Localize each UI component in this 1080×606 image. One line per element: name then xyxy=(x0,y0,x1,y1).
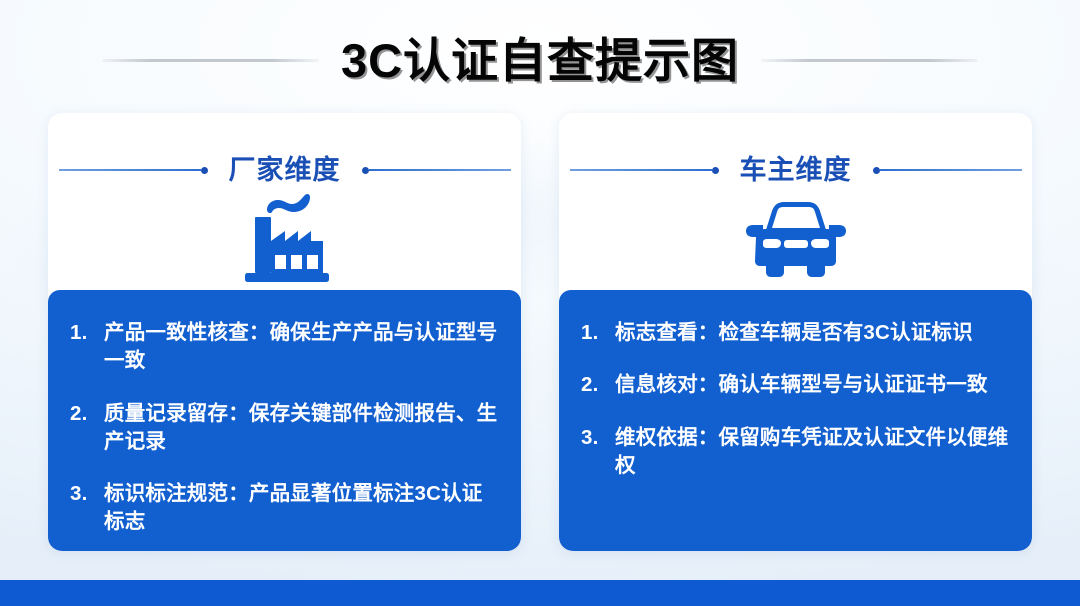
card-manufacturer-title: 厂家维度 xyxy=(208,157,362,184)
list-item: 1. 产品一致性核查：确保生产产品与认证型号一致 xyxy=(70,319,499,376)
title-connector-line-left xyxy=(59,169,201,171)
list-item: 1. 标志查看：检查车辆是否有3C认证标识 xyxy=(581,319,1010,347)
card-manufacturer-head: 厂家维度 xyxy=(48,113,521,290)
header: 3C认证自查提示图 xyxy=(0,16,1080,104)
title-dot-right xyxy=(362,167,369,174)
list-item: 2. 信息核对：确认车辆型号与认证证书一致 xyxy=(581,371,1010,399)
list-item-text: 质量记录留存：保存关键部件检测报告、生产记录 xyxy=(104,400,499,457)
card-car-owner[interactable]: 车主维度 xyxy=(559,113,1032,551)
car-icon xyxy=(559,189,1032,287)
card-car-owner-title-row: 车主维度 xyxy=(559,147,1032,193)
title-dot-left xyxy=(712,167,719,174)
card-car-owner-head: 车主维度 xyxy=(559,113,1032,290)
title-rule-left xyxy=(102,59,319,62)
list-item-text: 信息核对：确认车辆型号与认证证书一致 xyxy=(615,371,1010,399)
cards-container: 厂家维度 xyxy=(48,113,1032,551)
title-connector-line-right xyxy=(369,169,511,171)
card-car-owner-body: 1. 标志查看：检查车辆是否有3C认证标识 2. 信息核对：确认车辆型号与认证证… xyxy=(559,290,1032,551)
card-car-owner-list: 1. 标志查看：检查车辆是否有3C认证标识 2. 信息核对：确认车辆型号与认证证… xyxy=(581,319,1010,480)
title-dot-right xyxy=(873,167,880,174)
title-rule-right xyxy=(761,59,978,62)
title-connector-line-left xyxy=(570,169,712,171)
list-item-number: 1. xyxy=(70,319,104,347)
title-dot-left xyxy=(201,167,208,174)
list-item-text: 标志查看：检查车辆是否有3C认证标识 xyxy=(615,319,1010,347)
bottom-accent-bar xyxy=(0,580,1080,606)
list-item: 3. 标识标注规范：产品显著位置标注3C认证标志 xyxy=(70,480,499,537)
poster-root: 3C认证自查提示图 厂家维度 xyxy=(0,0,1080,606)
list-item: 3. 维权依据：保留购车凭证及认证文件以便维权 xyxy=(581,424,1010,481)
card-manufacturer[interactable]: 厂家维度 xyxy=(48,113,521,551)
list-item-text: 产品一致性核查：确保生产产品与认证型号一致 xyxy=(104,319,499,376)
list-item-text: 维权依据：保留购车凭证及认证文件以便维权 xyxy=(615,424,1010,481)
list-item-number: 1. xyxy=(581,319,615,347)
card-car-owner-title: 车主维度 xyxy=(719,157,873,184)
title-connector-line-right xyxy=(880,169,1022,171)
card-manufacturer-list: 1. 产品一致性核查：确保生产产品与认证型号一致 2. 质量记录留存：保存关键部… xyxy=(70,319,499,537)
factory-icon xyxy=(48,189,521,287)
list-item-number: 2. xyxy=(581,371,615,399)
list-item: 2. 质量记录留存：保存关键部件检测报告、生产记录 xyxy=(70,400,499,457)
list-item-number: 2. xyxy=(70,400,104,428)
page-title: 3C认证自查提示图 xyxy=(341,37,739,84)
card-manufacturer-body: 1. 产品一致性核查：确保生产产品与认证型号一致 2. 质量记录留存：保存关键部… xyxy=(48,290,521,551)
list-item-text: 标识标注规范：产品显著位置标注3C认证标志 xyxy=(104,480,499,537)
card-manufacturer-title-row: 厂家维度 xyxy=(48,147,521,193)
list-item-number: 3. xyxy=(581,424,615,452)
list-item-number: 3. xyxy=(70,480,104,508)
